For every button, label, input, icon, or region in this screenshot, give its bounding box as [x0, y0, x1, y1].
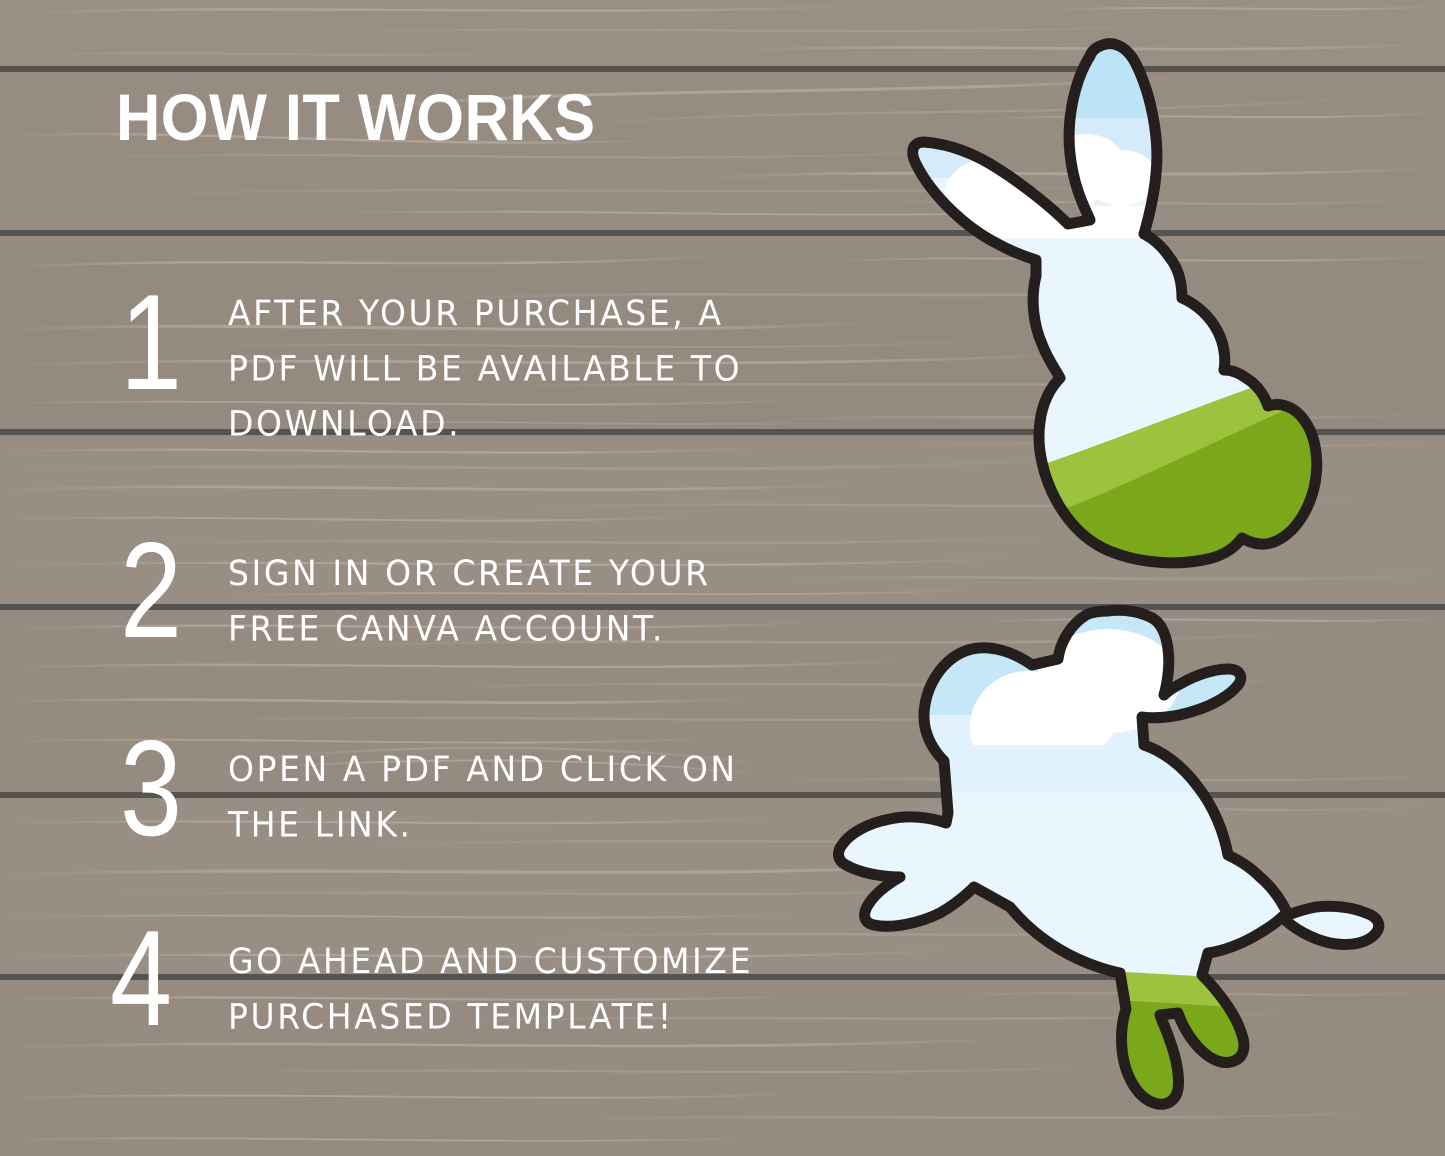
step-item-1: 1 After your purchase, a PDF will be ava… — [120, 282, 808, 442]
leaping-bunny-landscape-fill — [820, 595, 1400, 1135]
sitting-bunny-illustration — [890, 38, 1370, 598]
step-text-2: Sign in or create your free Canva accoun… — [228, 546, 808, 656]
leaping-bunny-illustration — [820, 595, 1400, 1135]
step-item-2: 2 Sign in or create your free Canva acco… — [120, 530, 808, 650]
step-number-2: 2 — [120, 530, 209, 650]
step-number-4: 4 — [110, 918, 199, 1038]
step-text-4: Go ahead and customize purchased templat… — [228, 934, 808, 1044]
step-number-3: 3 — [120, 728, 209, 848]
step-item-4: 4 Go ahead and customize purchased templ… — [110, 918, 808, 1038]
poster-canvas: HOW IT WORKS 1 After your purchase, a PD… — [0, 0, 1445, 1156]
step-text-1: After your purchase, a PDF will be avail… — [228, 286, 808, 451]
step-number-1: 1 — [120, 282, 209, 402]
step-text-3: Open a PDF and click on the link. — [228, 742, 808, 852]
step-item-3: 3 Open a PDF and click on the link. — [120, 728, 808, 848]
page-title: HOW IT WORKS — [116, 84, 596, 150]
